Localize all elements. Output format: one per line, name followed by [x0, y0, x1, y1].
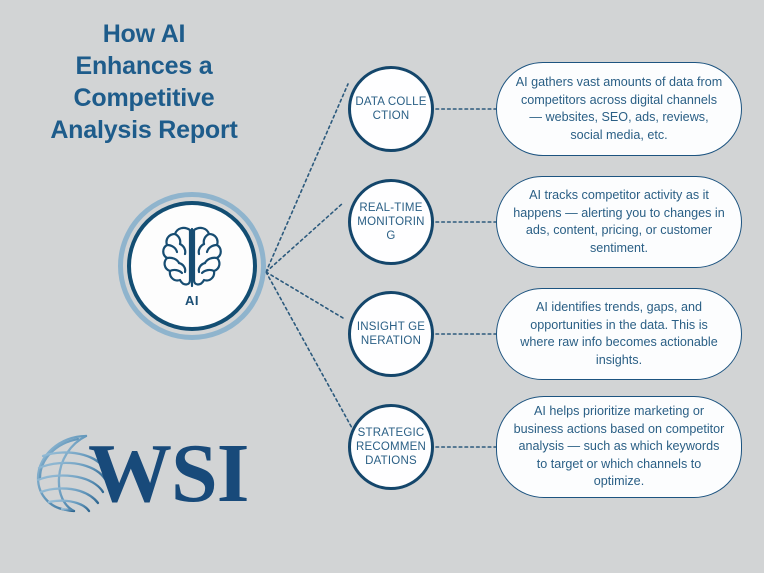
step-node-label: INSIGHT GENERATION	[354, 320, 428, 348]
hub-content: AI	[131, 205, 253, 327]
page-title-line-2: Enhances a	[8, 50, 280, 82]
step-bubble-real-time-monitoring[interactable]: AI tracks competitor activity as it happ…	[496, 176, 742, 268]
step-node-label: REAL-TIME MONITORING	[354, 201, 428, 243]
step-bubble-text: AI tracks competitor activity as it happ…	[513, 187, 725, 257]
step-bubble-text: AI gathers vast amounts of data from com…	[513, 74, 725, 144]
wsi-wordmark: WSI	[88, 426, 248, 522]
connector-hub-to-step-3	[266, 272, 343, 318]
step-node-insight-generation[interactable]: INSIGHT GENERATION	[348, 291, 434, 377]
page-title-line-1: How AI	[8, 18, 280, 50]
step-node-label: DATA COLLECTION	[354, 95, 428, 123]
page-title-line-3: Competitive	[8, 82, 280, 114]
step-node-real-time-monitoring[interactable]: REAL-TIME MONITORING	[348, 179, 434, 265]
brain-icon	[158, 224, 226, 290]
wsi-logo: WSI	[30, 424, 256, 524]
step-bubble-insight-generation[interactable]: AI identifies trends, gaps, and opportun…	[496, 288, 742, 380]
page-title: How AI Enhances a Competitive Analysis R…	[8, 18, 280, 146]
step-bubble-text: AI identifies trends, gaps, and opportun…	[513, 299, 725, 369]
step-node-data-collection[interactable]: DATA COLLECTION	[348, 66, 434, 152]
hub-label: AI	[185, 293, 199, 308]
infographic-canvas: How AI Enhances a Competitive Analysis R…	[0, 0, 764, 573]
step-bubble-strategic-recommendations[interactable]: AI helps prioritize marketing or busines…	[496, 396, 742, 498]
step-bubble-text: AI helps prioritize marketing or busines…	[513, 403, 725, 491]
page-title-line-4: Analysis Report	[8, 114, 280, 146]
step-bubble-data-collection[interactable]: AI gathers vast amounts of data from com…	[496, 62, 742, 156]
connector-hub-to-step-4	[266, 272, 352, 428]
step-node-strategic-recommendations[interactable]: STRATEGIC RECOMMENDATIONS	[348, 404, 434, 490]
connector-hub-to-step-2	[266, 203, 343, 272]
step-node-label: STRATEGIC RECOMMENDATIONS	[354, 426, 428, 468]
central-hub: AI	[118, 192, 266, 340]
